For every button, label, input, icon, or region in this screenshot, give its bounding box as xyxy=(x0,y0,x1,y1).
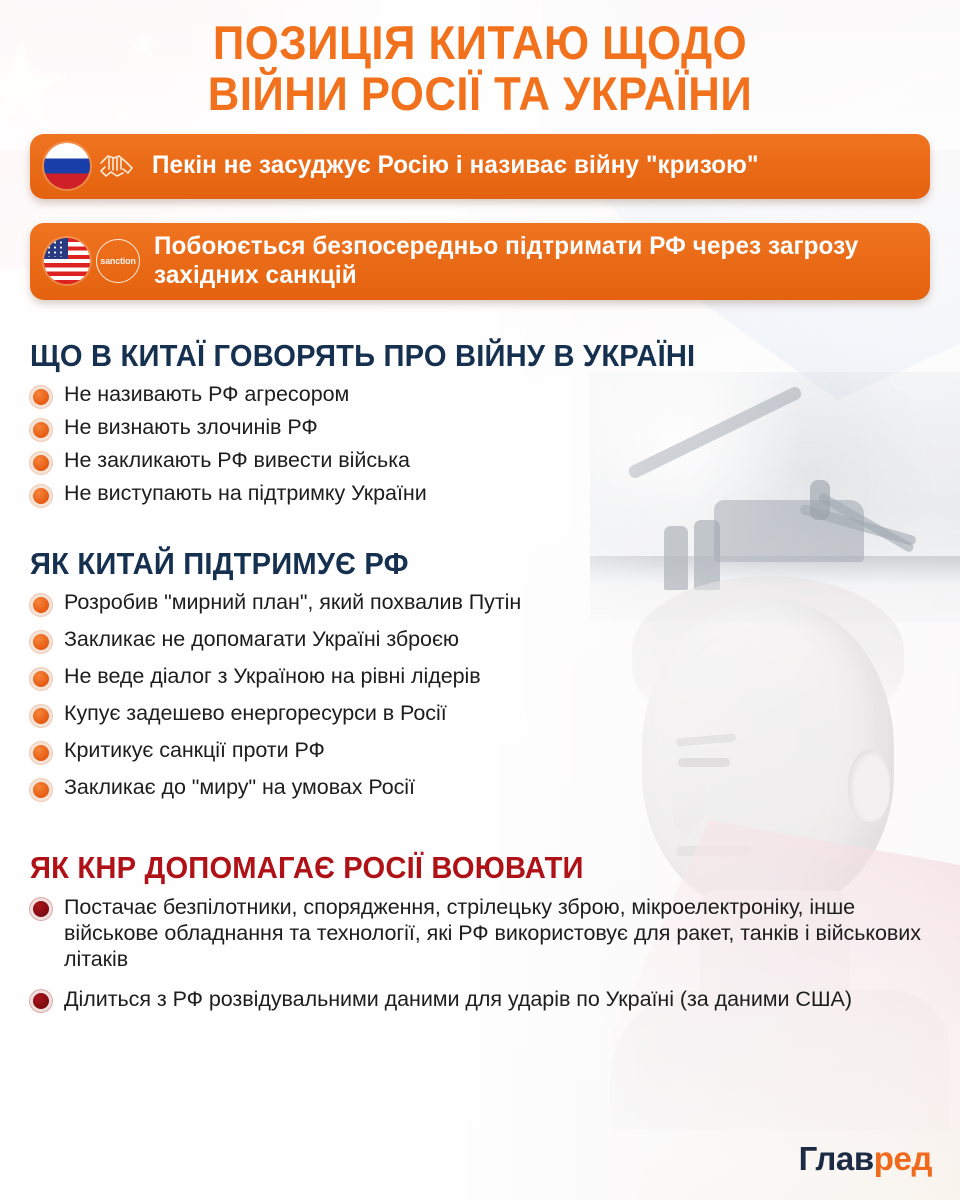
section-title: ЩО В КИТАЇ ГОВОРЯТЬ ПРО ВІЙНУ В УКРАЇНІ xyxy=(30,338,876,374)
list-item: Купує задешево енергоресурси в Росії xyxy=(30,701,930,727)
glavred-logo[interactable]: Главред xyxy=(799,1140,932,1178)
handshake-icon xyxy=(96,145,138,187)
list-item: Закликає до "миру" на умовах Росії xyxy=(30,775,930,801)
bullet-dot-icon xyxy=(30,668,52,690)
bullet-dot-icon xyxy=(30,779,52,801)
sanction-icon: sanction xyxy=(96,239,140,283)
list-item: Не веде діалог з Україною на рівні лідер… xyxy=(30,664,930,690)
usa-flag-canton xyxy=(44,238,68,260)
bullet-list: Розробив "мирний план", який похвалив Пу… xyxy=(30,590,930,801)
page-title: ПОЗИЦІЯ КИТАЮ ЩОДО ВІЙНИ РОСІЇ ТА УКРАЇН… xyxy=(34,0,927,124)
sanction-icon-label: sanction xyxy=(100,256,135,266)
bullet-list: Постачає безпілотники, спорядження, стрі… xyxy=(30,894,930,1013)
bullet-dot-icon xyxy=(30,705,52,727)
list-item-label: Не закликають РФ вивести війська xyxy=(64,448,410,474)
bullet-dot-icon xyxy=(30,485,52,507)
list-item-label: Не називають РФ агресором xyxy=(64,382,349,408)
russia-flag-icon xyxy=(44,143,90,189)
list-item: Не виступають на підтримку України xyxy=(30,481,930,507)
banner-fears-sanctions: sanction Побоюється безпосередньо підтри… xyxy=(30,223,930,300)
section-title: ЯК КНР ДОПОМАГАЄ РОСІЇ ВОЮВАТИ xyxy=(30,850,876,886)
list-item: Критикує санкції проти РФ xyxy=(30,738,930,764)
usa-flag-icon xyxy=(44,238,90,284)
section-how-china-supports-rf: ЯК КИТАЙ ПІДТРИМУЄ РФ Розробив "мирний п… xyxy=(0,514,960,801)
list-item-label: Купує задешево енергоресурси в Росії xyxy=(64,701,447,727)
bullet-dot-icon xyxy=(30,898,52,920)
page-title-line-2: ВІЙНИ РОСІЇ ТА УКРАЇНИ xyxy=(71,69,889,120)
banner-text: Побоюється безпосередньо підтримати РФ ч… xyxy=(154,232,889,290)
list-item-label: Постачає безпілотники, спорядження, стрі… xyxy=(64,894,930,973)
banner-beijing-not-condemn: Пекін не засуджує Росію і називає війну … xyxy=(30,134,930,199)
list-item-label: Не веде діалог з Україною на рівні лідер… xyxy=(64,664,481,690)
list-item-label: Ділиться з РФ розвідувальними даними для… xyxy=(64,986,852,1012)
list-item: Закликає не допомагати Україні зброєю xyxy=(30,627,930,653)
page-title-line-1: ПОЗИЦІЯ КИТАЮ ЩОДО xyxy=(71,18,889,69)
banner-icon-group xyxy=(44,143,138,189)
bullet-dot-icon xyxy=(30,452,52,474)
list-item: Постачає безпілотники, спорядження, стрі… xyxy=(30,894,930,973)
section-title: ЯК КИТАЙ ПІДТРИМУЄ РФ xyxy=(30,546,876,582)
list-item: Ділиться з РФ розвідувальними даними для… xyxy=(30,986,930,1012)
list-item-label: Критикує санкції проти РФ xyxy=(64,738,325,764)
list-item-label: Розробив "мирний план", який похвалив Пу… xyxy=(64,590,521,616)
section-how-prc-helps-russia-fight: ЯК КНР ДОПОМАГАЄ РОСІЇ ВОЮВАТИ Постачає … xyxy=(0,812,960,1013)
banner-list: Пекін не засуджує Росію і називає війну … xyxy=(0,124,960,300)
list-item: Розробив "мирний план", який похвалив Пу… xyxy=(30,590,930,616)
list-item-label: Не виступають на підтримку України xyxy=(64,481,427,507)
bullet-dot-icon xyxy=(30,742,52,764)
list-item-label: Закликає не допомагати Україні зброєю xyxy=(64,627,459,653)
list-item: Не закликають РФ вивести війська xyxy=(30,448,930,474)
logo-part-one: Глав xyxy=(799,1140,874,1177)
banner-icon-group: sanction xyxy=(44,238,140,284)
list-item: Не визнають злочинів РФ xyxy=(30,415,930,441)
infographic-poster: ★ ★ ★ ★ ★ xyxy=(0,0,960,1200)
banner-text: Пекін не засуджує Росію і називає війну … xyxy=(152,151,759,180)
list-item-label: Не визнають злочинів РФ xyxy=(64,415,318,441)
bullet-dot-icon xyxy=(30,990,52,1012)
bullet-dot-icon xyxy=(30,419,52,441)
bullet-dot-icon xyxy=(30,594,52,616)
list-item: Не називають РФ агресором xyxy=(30,382,930,408)
poster-content: ПОЗИЦІЯ КИТАЮ ЩОДО ВІЙНИ РОСІЇ ТА УКРАЇН… xyxy=(0,0,960,1012)
logo-part-two: ред xyxy=(874,1140,932,1177)
list-item-label: Закликає до "миру" на умовах Росії xyxy=(64,775,415,801)
bullet-list: Не називають РФ агресором Не визнають зл… xyxy=(30,382,930,507)
section-what-china-says: ЩО В КИТАЇ ГОВОРЯТЬ ПРО ВІЙНУ В УКРАЇНІ … xyxy=(0,324,960,507)
bullet-dot-icon xyxy=(30,386,52,408)
bullet-dot-icon xyxy=(30,631,52,653)
